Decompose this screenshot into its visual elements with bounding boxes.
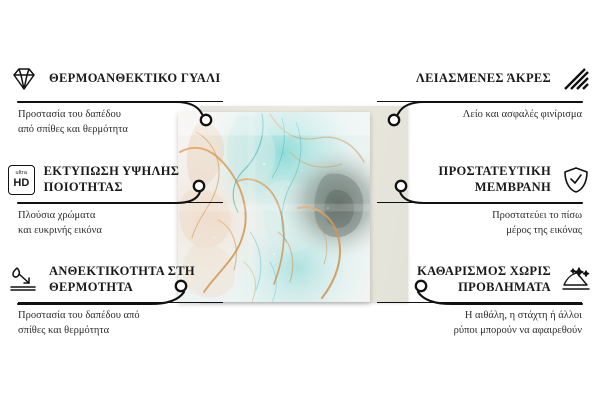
feature-heat-durability: ΑΝΘΕΚΤΙΚΟΤΗΤΑ ΣΤΗ ΘΕΡΜΟΤΗΤΑ Προστασία το… — [8, 263, 223, 339]
feature-heat-resistant-glass: ΘΕΡΜΟΑΝΘΕΚΤΙΚΟ ΓΥΑΛΙ Προστασία του δαπέδ… — [8, 62, 223, 138]
feature-desc-line: Πλούσια χρώματα — [18, 209, 223, 224]
feature-desc-line: μέρος της εικόνας — [377, 224, 582, 239]
feature-title: ΑΝΘΕΚΤΙΚΟΤΗΤΑ ΣΤΗ ΘΕΡΜΟΤΗΤΑ — [49, 264, 223, 295]
feature-divider — [377, 202, 582, 203]
feature-divider — [18, 101, 223, 102]
shield-check-icon — [560, 165, 592, 195]
easy-clean-icon — [560, 265, 592, 295]
feature-title: ΛΕΙΑΣΜΕΝΕΣ ΆΚΡΕΣ — [416, 71, 551, 87]
feature-desc-line: Προστατεύει το πίσω — [377, 209, 582, 224]
feature-protective-membrane: ΠΡΟΣΤΑΤΕΥΤΙΚΗ ΜΕΜΒΡΑΝΗ Προστατεύει το πί… — [377, 163, 592, 239]
feature-header: ultra HD ΕΚΤΥΠΩΣΗ ΥΨΗΛΗΣ ΠΟΙΟΤΗΤΑΣ — [8, 163, 223, 197]
feature-desc-line: Προστασία του δαπέδου από — [18, 309, 223, 324]
feature-description: Η αιθάλη, η στάχτη ή άλλοι ρύποι μπορούν… — [377, 309, 582, 339]
feature-easy-cleaning: ΚΑΘΑΡΙΣΜΟΣ ΧΩΡΙΣ ΠΡΟΒΛΗΜΑΤΑ Η αιθάλη, η … — [377, 263, 592, 339]
feature-polished-edges: ΛΕΙΑΣΜΕΝΕΣ ΆΚΡΕΣ Λείο και ασφαλές φινίρι… — [377, 62, 592, 123]
feature-desc-line: Λείο και ασφαλές φινίρισμα — [377, 108, 582, 123]
feature-description: Λείο και ασφαλές φινίρισμα — [377, 108, 582, 123]
feature-divider — [377, 101, 582, 102]
feature-desc-line: Η αιθάλη, η στάχτη ή άλλοι — [377, 309, 582, 324]
feature-desc-line: από σπίθες και θερμότητα — [18, 123, 223, 138]
feature-description: Προστασία του δαπέδου από σπίθες και θερ… — [18, 309, 223, 339]
feature-description: Προστατεύει το πίσω μέρος της εικόνας — [377, 209, 582, 239]
heat-resistance-icon — [8, 265, 40, 295]
ultra-hd-icon: ultra HD — [8, 165, 35, 195]
feature-description: Πλούσια χρώματα και ευκρινής εικόνα — [18, 209, 223, 239]
feature-desc-line: Προστασία του δαπέδου — [18, 108, 223, 123]
feature-desc-line: ρύποι μπορούν να αφαιρεθούν — [377, 324, 582, 339]
ultra-hd-big-label: HD — [13, 178, 29, 189]
feature-header: ΛΕΙΑΣΜΕΝΕΣ ΆΚΡΕΣ — [377, 62, 592, 96]
feature-desc-line: σπίθες και θερμότητα — [18, 324, 223, 339]
feature-title: ΕΚΤΥΠΩΣΗ ΥΨΗΛΗΣ ΠΟΙΟΤΗΤΑΣ — [44, 164, 223, 195]
feature-title: ΠΡΟΣΤΑΤΕΥΤΙΚΗ ΜΕΜΒΡΑΝΗ — [377, 164, 551, 195]
diamond-icon — [8, 64, 40, 94]
feature-title: ΚΑΘΑΡΙΣΜΟΣ ΧΩΡΙΣ ΠΡΟΒΛΗΜΑΤΑ — [377, 264, 551, 295]
feature-high-quality-print: ultra HD ΕΚΤΥΠΩΣΗ ΥΨΗΛΗΣ ΠΟΙΟΤΗΤΑΣ Πλούσ… — [8, 163, 223, 239]
feature-header: ΘΕΡΜΟΑΝΘΕΚΤΙΚΟ ΓΥΑΛΙ — [8, 62, 223, 96]
polished-edges-icon — [560, 64, 592, 94]
feature-header: ΚΑΘΑΡΙΣΜΟΣ ΧΩΡΙΣ ΠΡΟΒΛΗΜΑΤΑ — [377, 263, 592, 297]
feature-divider — [18, 302, 223, 303]
infographic-stage: ΘΕΡΜΟΑΝΘΕΚΤΙΚΟ ΓΥΑΛΙ Προστασία του δαπέδ… — [0, 0, 600, 400]
feature-divider — [377, 302, 582, 303]
ultra-hd-small-label: ultra — [15, 171, 27, 177]
feature-header: ΑΝΘΕΚΤΙΚΟΤΗΤΑ ΣΤΗ ΘΕΡΜΟΤΗΤΑ — [8, 263, 223, 297]
feature-title: ΘΕΡΜΟΑΝΘΕΚΤΙΚΟ ΓΥΑΛΙ — [49, 71, 221, 87]
feature-description: Προστασία του δαπέδου από σπίθες και θερ… — [18, 108, 223, 138]
feature-divider — [18, 202, 223, 203]
feature-desc-line: και ευκρινής εικόνα — [18, 224, 223, 239]
feature-header: ΠΡΟΣΤΑΤΕΥΤΙΚΗ ΜΕΜΒΡΑΝΗ — [377, 163, 592, 197]
